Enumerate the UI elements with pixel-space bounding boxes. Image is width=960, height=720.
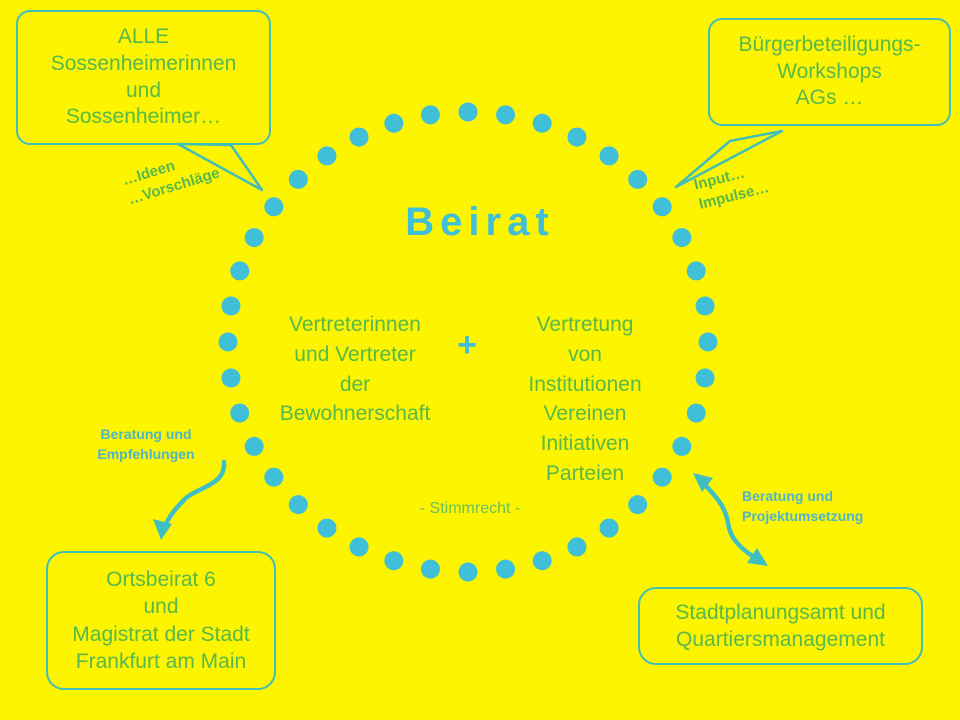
circle-dot: [567, 128, 586, 147]
speech-bubble-workshops[interactable]: Bürgerbeteiligungs- Workshops AGs …: [708, 18, 951, 126]
col-right-line-5: Initiativen: [500, 429, 670, 459]
circle-dot: [350, 537, 369, 556]
arrow-label-right-line-2: Projektumsetzung: [742, 507, 922, 527]
circle-dot: [533, 551, 552, 570]
circle-dot: [221, 368, 240, 387]
circle-dot: [289, 170, 308, 189]
speech-bubble-citizens[interactable]: ALLE Sossenheimerinnen und Sossenheimer…: [16, 10, 271, 145]
circle-dot: [264, 468, 283, 487]
circle-dot: [219, 333, 238, 352]
diagram-canvas: ALLE Sossenheimerinnen und Sossenheimer……: [0, 0, 960, 720]
circle-dot: [533, 114, 552, 133]
bubble-workshops-line-3: AGs …: [720, 85, 939, 112]
circle-dot: [230, 261, 249, 280]
col-left-line-4: Bewohnerschaft: [265, 399, 445, 429]
circle-dot: [317, 146, 336, 165]
circle-dot: [384, 551, 403, 570]
bubble-workshops-line-2: Workshops: [720, 59, 939, 86]
box-ortsbeirat-line-4: Frankfurt am Main: [56, 648, 266, 675]
circle-dot: [672, 437, 691, 456]
box-stadtplanungsamt[interactable]: Stadtplanungsamt und Quartiersmanagement: [638, 587, 923, 665]
circle-dot: [421, 105, 440, 124]
arrowhead-down-left: [153, 519, 172, 540]
box-ortsbeirat[interactable]: Ortsbeirat 6 und Magistrat der Stadt Fra…: [46, 551, 276, 690]
page-title: Beirat: [0, 200, 960, 245]
circle-dot: [628, 170, 647, 189]
circle-dot: [221, 297, 240, 316]
arrowhead-up-left: [693, 473, 713, 492]
circle-dot: [245, 437, 264, 456]
circle-dot: [459, 563, 478, 582]
arrow-label-left-line-1: Beratung und: [68, 425, 224, 445]
col-right-line-2: von: [500, 340, 670, 370]
col-left-line-3: der: [265, 370, 445, 400]
col-right-line-3: Institutionen: [500, 370, 670, 400]
circle-dot: [230, 404, 249, 423]
arrow-label-right-line-1: Beratung und: [742, 487, 922, 507]
circle-dot: [696, 368, 715, 387]
circle-dot: [350, 128, 369, 147]
box-stadtplanungsamt-line-2: Quartiersmanagement: [648, 626, 913, 653]
circle-dot: [628, 495, 647, 514]
box-ortsbeirat-line-2: und: [56, 593, 266, 620]
circle-dot: [699, 333, 718, 352]
bubble-citizens-line-1: ALLE: [28, 24, 259, 51]
center-column-residents: Vertreterinnen und Vertreter der Bewohne…: [265, 310, 445, 429]
col-left-line-2: und Vertreter: [265, 340, 445, 370]
circle-dot: [496, 105, 515, 124]
circle-dot: [317, 519, 336, 538]
circle-dot: [696, 297, 715, 316]
circle-dot: [687, 261, 706, 280]
center-column-institutions: Vertretung von Institutionen Vereinen In…: [500, 310, 670, 489]
arrow-label-beratung-projektumsetzung: Beratung und Projektumsetzung: [742, 487, 922, 526]
bubble-citizens-line-4: Sossenheimer…: [28, 104, 259, 131]
col-right-line-1: Vertretung: [500, 310, 670, 340]
circle-dot: [567, 537, 586, 556]
arrowhead-down-right: [747, 548, 768, 566]
circle-dot: [384, 114, 403, 133]
footnote-stimmrecht: - Stimmrecht -: [355, 500, 585, 518]
col-right-line-4: Vereinen: [500, 399, 670, 429]
circle-dot: [600, 519, 619, 538]
circle-dot: [289, 495, 308, 514]
bubble-citizens-line-2: Sossenheimerinnen: [28, 51, 259, 78]
box-ortsbeirat-line-3: Magistrat der Stadt: [56, 621, 266, 648]
bubble-workshops-line-1: Bürgerbeteiligungs-: [720, 32, 939, 59]
box-ortsbeirat-line-1: Ortsbeirat 6: [56, 566, 266, 593]
plus-icon: +: [450, 328, 484, 362]
circle-dot: [496, 560, 515, 579]
circle-dot: [687, 404, 706, 423]
arrow-label-left-line-2: Empfehlungen: [68, 445, 224, 465]
arrow-label-beratung-empfehlungen: Beratung und Empfehlungen: [68, 425, 224, 464]
bubble-citizens-line-3: und: [28, 78, 259, 105]
circle-dot: [600, 146, 619, 165]
arrow-beratung-empfehlungen: [163, 462, 224, 531]
col-left-line-1: Vertreterinnen: [265, 310, 445, 340]
circle-dot: [459, 103, 478, 122]
col-right-line-6: Parteien: [500, 459, 670, 489]
box-stadtplanungsamt-line-1: Stadtplanungsamt und: [648, 599, 913, 626]
circle-dot: [421, 560, 440, 579]
